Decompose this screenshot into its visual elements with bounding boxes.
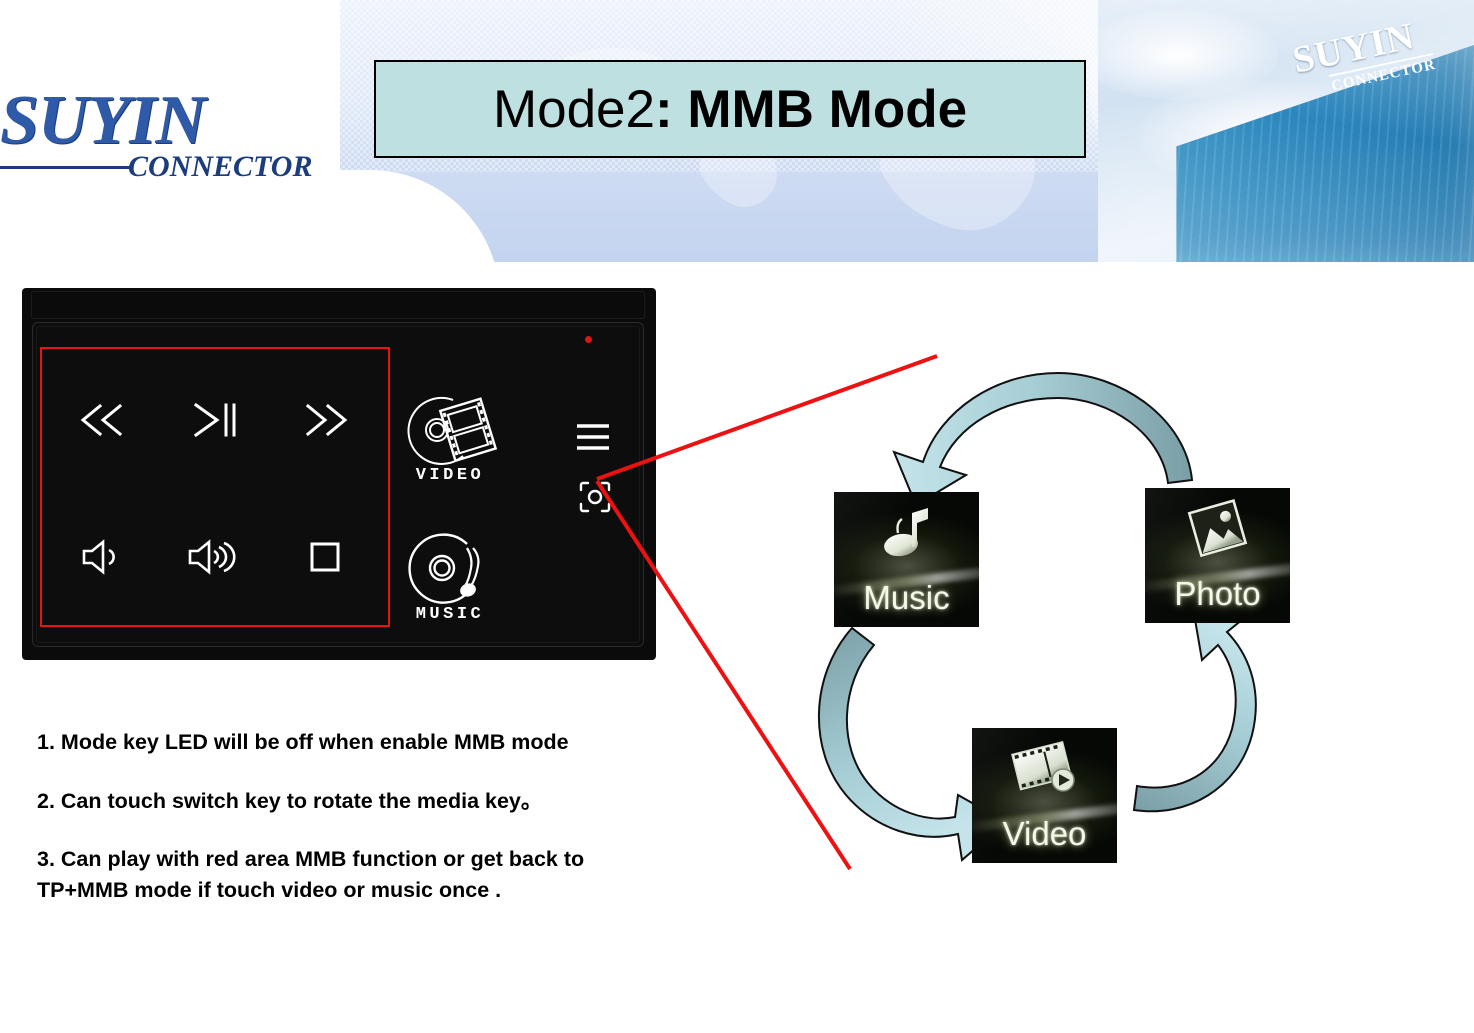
volume-up-key[interactable]: [176, 527, 250, 587]
header-bottom-edge: [0, 262, 1474, 268]
video-media-key-label: VIDEO: [416, 466, 485, 485]
page-title-suffix: : MMB Mode: [655, 80, 967, 139]
switch-focus-icon: [578, 480, 612, 514]
suyin-logo-main: SUYIN: [0, 86, 330, 156]
note-2: 2. Can touch switch key to rotate the me…: [37, 786, 637, 817]
video-disc-film-icon: VIDEO: [395, 382, 505, 494]
slide-header: SUYIN CONNECTOR SUYIN CONNECTOR Mode2: M…: [0, 0, 1474, 268]
suyin-logo: SUYIN CONNECTOR: [0, 86, 330, 206]
previous-icon: [76, 403, 130, 437]
suyin-logo-sub: CONNECTOR: [128, 152, 312, 182]
page-title-box: Mode2: MMB Mode: [374, 60, 1086, 158]
page-title: Mode2: MMB Mode: [493, 83, 967, 136]
stop-icon: [308, 540, 342, 574]
arrow-photo-to-music: [894, 373, 1192, 505]
hamburger-menu-icon: [573, 420, 613, 454]
cycle-tile-music-label: Music: [834, 581, 979, 614]
stop-key[interactable]: [288, 527, 362, 587]
slide-root: SUYIN CONNECTOR SUYIN CONNECTOR Mode2: M…: [0, 0, 1474, 1033]
suyin-building-photo: SUYIN CONNECTOR: [1098, 0, 1474, 262]
video-media-key[interactable]: VIDEO: [395, 382, 505, 494]
music-note-icon: [876, 503, 938, 565]
note-3: 3. Can play with red area MMB function o…: [37, 844, 637, 905]
volume-up-icon: [184, 539, 242, 575]
cycle-tile-video-label: Video: [972, 817, 1117, 850]
music-disc-note-icon: MUSIC: [395, 518, 505, 630]
play-pause-icon: [190, 402, 240, 438]
cycle-tile-photo-label: Photo: [1145, 577, 1290, 610]
cycle-tile-video[interactable]: Video: [972, 728, 1117, 863]
next-track-key[interactable]: [288, 390, 362, 450]
video-film-art: [972, 734, 1117, 806]
media-rotation-cycle-diagram: Music: [790, 340, 1350, 920]
music-media-key[interactable]: MUSIC: [395, 518, 505, 630]
cycle-tile-music[interactable]: Music: [834, 492, 979, 627]
cycle-tile-photo[interactable]: Photo: [1145, 488, 1290, 623]
photo-frame-art: [1145, 494, 1290, 566]
note-1: 1. Mode key LED will be off when enable …: [37, 727, 637, 758]
volume-down-icon: [78, 539, 128, 575]
device-top-strip: [31, 291, 645, 319]
play-pause-key[interactable]: [178, 390, 252, 450]
switch-key[interactable]: [578, 480, 612, 514]
video-filmstrip-icon: [1010, 739, 1080, 801]
volume-down-key[interactable]: [66, 527, 140, 587]
mode-key-led-indicator: [585, 336, 592, 343]
next-icon: [298, 403, 352, 437]
page-title-prefix: Mode2: [493, 80, 655, 139]
mmb-key-grid: [40, 347, 390, 627]
previous-track-key[interactable]: [66, 390, 140, 450]
music-note-art: [834, 498, 979, 570]
menu-key[interactable]: [573, 420, 613, 454]
notes-list: 1. Mode key LED will be off when enable …: [37, 727, 637, 905]
arrow-video-to-photo: [1134, 602, 1256, 811]
photo-image-icon: [1185, 498, 1251, 562]
logo-rule: [0, 166, 130, 169]
music-media-key-label: MUSIC: [416, 605, 485, 624]
